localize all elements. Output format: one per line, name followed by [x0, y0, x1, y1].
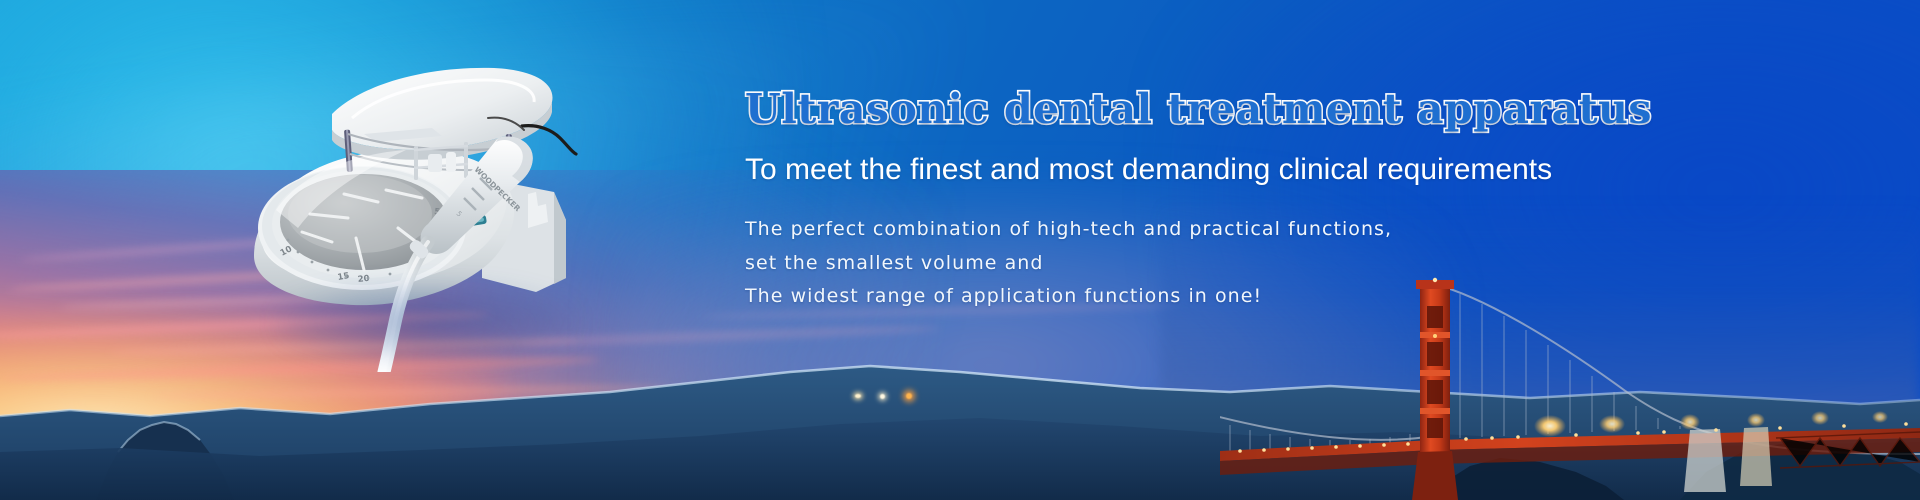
banner-body-line-1: The perfect combination of high-tech and… [745, 213, 1845, 247]
banner-title: Ultrasonic dental treatment apparatus [745, 84, 1845, 134]
product-shadow [276, 282, 576, 362]
banner-subtitle: To meet the finest and most demanding cl… [745, 151, 1845, 189]
banner-body-line-2: set the smallest volume and [745, 247, 1845, 281]
product-image-ultrasonic-scaler: 0 5 15 20 10 [236, 42, 636, 372]
banner-copy: Ultrasonic dental treatment apparatus To… [745, 84, 1845, 314]
ridge-light [880, 394, 885, 399]
promo-banner: 0 5 15 20 10 [0, 0, 1920, 500]
ridge-light [855, 394, 861, 398]
banner-body-line-3: The widest range of application function… [745, 280, 1845, 314]
ridge-light [906, 393, 912, 399]
banner-body: The perfect combination of high-tech and… [745, 213, 1845, 314]
